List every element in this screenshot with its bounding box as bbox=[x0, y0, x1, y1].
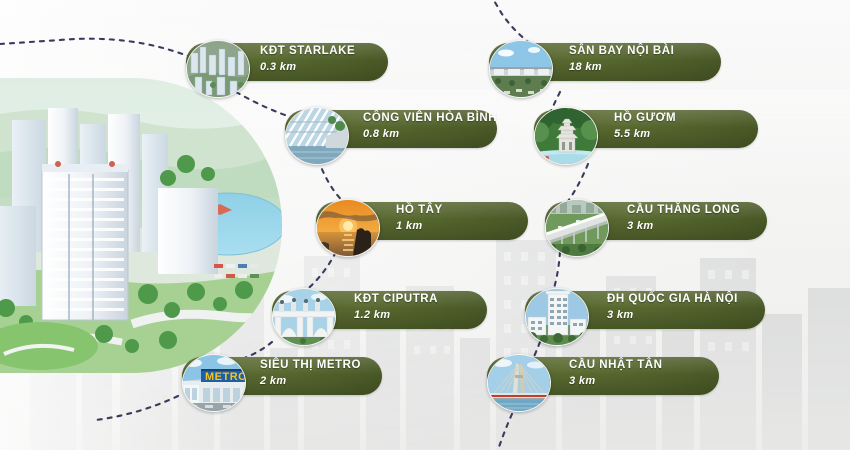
infographic-canvas: KĐT STARLAKE 0.3 km SÂN BAY NỘI BÀI bbox=[0, 0, 850, 450]
poi-name: HỒ GƯƠM bbox=[614, 112, 676, 126]
thanglong-bridge-thumb[interactable] bbox=[545, 199, 609, 257]
poi-text: HỒ GƯƠM 5.5 km bbox=[614, 112, 676, 141]
poi-distance: 1 km bbox=[396, 220, 443, 233]
hoguom-turtle-tower-thumb[interactable] bbox=[534, 107, 598, 165]
noibai-airport-thumb[interactable] bbox=[489, 40, 553, 98]
poi-distance: 3 km bbox=[569, 375, 662, 388]
poi-name: ĐH QUỐC GIA HÀ NỘI bbox=[607, 293, 738, 307]
hoabinh-park-thumb[interactable] bbox=[285, 107, 349, 165]
poi-distance: 2 km bbox=[260, 375, 361, 388]
poi-distance: 0.3 km bbox=[260, 61, 355, 74]
ciputra-gate-thumb[interactable] bbox=[272, 288, 336, 346]
hotay-sunset-thumb[interactable] bbox=[316, 199, 380, 257]
poi-distance: 3 km bbox=[627, 220, 740, 233]
poi-text: CẦU THĂNG LONG 3 km bbox=[627, 204, 740, 233]
poi-distance: 5.5 km bbox=[614, 128, 676, 141]
poi-text: ĐH QUỐC GIA HÀ NỘI 3 km bbox=[607, 293, 738, 322]
poi-text: CẦU NHẬT TÂN 3 km bbox=[569, 359, 662, 388]
metro-store-thumb[interactable]: METRO bbox=[182, 354, 246, 412]
nhattan-bridge-thumb[interactable] bbox=[487, 354, 551, 412]
poi-name: CÔNG VIÊN HÒA BÌNH bbox=[363, 112, 497, 126]
poi-text: KĐT STARLAKE 0.3 km bbox=[260, 45, 355, 74]
vnu-building-thumb[interactable] bbox=[525, 288, 589, 346]
poi-name: SÂN BAY NỘI BÀI bbox=[569, 45, 674, 59]
poi-text: SIÊU THỊ METRO 2 km bbox=[260, 359, 361, 388]
poi-name: HỒ TÂY bbox=[396, 204, 443, 218]
poi-distance: 0.8 km bbox=[363, 128, 497, 141]
poi-distance: 18 km bbox=[569, 61, 674, 74]
poi-text: KĐT CIPUTRA 1.2 km bbox=[354, 293, 438, 322]
poi-text: SÂN BAY NỘI BÀI 18 km bbox=[569, 45, 674, 74]
poi-text: HỒ TÂY 1 km bbox=[396, 204, 443, 233]
poi-name: SIÊU THỊ METRO bbox=[260, 359, 361, 373]
poi-name: KĐT STARLAKE bbox=[260, 45, 355, 59]
poi-distance: 3 km bbox=[607, 309, 738, 322]
poi-name: CẦU NHẬT TÂN bbox=[569, 359, 662, 373]
poi-distance: 1.2 km bbox=[354, 309, 438, 322]
svg-text:METRO: METRO bbox=[205, 371, 245, 383]
poi-name: CẦU THĂNG LONG bbox=[627, 204, 740, 218]
poi-name: KĐT CIPUTRA bbox=[354, 293, 438, 307]
poi-text: CÔNG VIÊN HÒA BÌNH 0.8 km bbox=[363, 112, 497, 141]
starlake-aerial-thumb[interactable] bbox=[186, 40, 250, 98]
